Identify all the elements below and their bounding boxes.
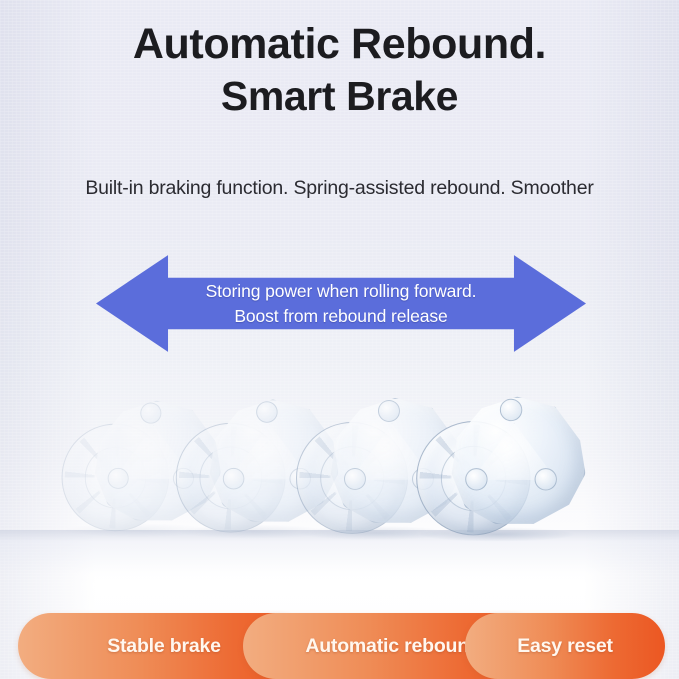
hub-boss-left [223,468,245,490]
hub-boss-top [378,400,400,422]
product-instance [410,393,604,536]
hub-boss-right [535,468,557,490]
hub-boss-top [140,403,161,424]
arrow-text-line-1: Storing power when rolling forward. [96,279,586,304]
arrow-banner-text: Storing power when rolling forward. Boos… [96,279,586,329]
hub-boss-left [344,468,366,490]
product-marketing-poster: Automatic Rebound. Smart Brake Built-in … [0,0,679,679]
hub-boss-left [108,468,129,489]
feature-pill-label: Automatic rebound [305,635,480,658]
page-title: Automatic Rebound. Smart Brake [0,18,679,122]
product-stage [0,370,679,570]
hub-boss-top [500,399,522,421]
feature-pill-label: Stable brake [107,635,221,658]
double-arrow-banner: Storing power when rolling forward. Boos… [96,252,586,355]
headline-line-2: Smart Brake [0,70,679,122]
feature-pill-label: Easy reset [517,635,613,658]
feature-pill-easy-reset[interactable]: Easy reset [465,613,665,679]
hub-boss-left [465,468,487,490]
feature-pill-bar: Stable brake Automatic rebound Easy rese… [0,605,679,679]
headline-line-1: Automatic Rebound. [133,20,546,68]
arrow-text-line-2: Boost from rebound release [96,304,586,329]
hub-boss-top [256,401,278,423]
subheading: Built-in braking function. Spring-assist… [0,175,679,201]
